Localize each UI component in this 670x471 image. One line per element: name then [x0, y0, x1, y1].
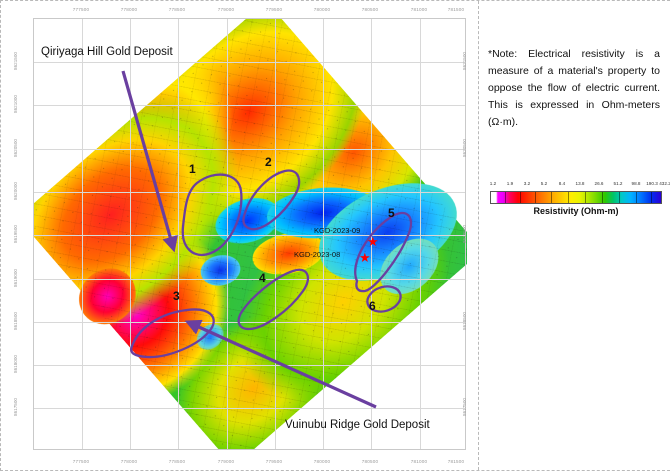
label-vuinubu-ridge-gold-deposit: Vuinubu Ridge Gold Deposit: [285, 419, 430, 431]
axis-x-tick-bottom: 781500: [448, 459, 465, 464]
axis-y-tick-right: 8619500: [462, 225, 467, 243]
gridline-horizontal: [34, 279, 465, 280]
axis-x-tick-top: 778000: [121, 7, 138, 12]
colorbar-divider: [568, 192, 569, 203]
resistivity-colorbar-legend: 1.2 1.9 3.2 5.2 8.4 13.8 26.6 51.2 98.8 …: [486, 181, 666, 216]
axis-y-tick-left: 8620500: [13, 139, 18, 157]
gridline-horizontal: [34, 62, 465, 63]
gridline-vertical: [275, 19, 276, 449]
axis-x-tick-bottom: 779500: [266, 459, 283, 464]
colorbar-divider: [520, 192, 521, 203]
axis-x-tick-top: 781000: [411, 7, 428, 12]
axis-x-tick-bottom: 778000: [121, 459, 138, 464]
borehole-label-kgd-2023-09: KGD-2023-09: [314, 226, 360, 235]
axis-y-tick-left: 8619500: [13, 225, 18, 243]
axis-x-tick-bottom: 777500: [73, 459, 90, 464]
axis-x-tick-bottom: 780500: [362, 459, 379, 464]
axis-y-tick-left: 8617500: [13, 398, 18, 416]
axis-y-tick-right: 8621500: [462, 52, 467, 70]
resistivity-note-text: *Note: Electrical resistivity is a measu…: [488, 46, 660, 131]
borehole-label-kgd-2023-08: KGD-2023-08: [294, 250, 340, 259]
axis-x-tick-top: 780500: [362, 7, 379, 12]
screenshot-root: 777500 778000 778500 779000 779500 78000…: [0, 0, 670, 471]
colorbar-tick: 51.2: [614, 181, 623, 186]
borehole-marker-kgd-2023-08: ★: [359, 251, 371, 264]
resistivity-map-panel: 777500 778000 778500 779000 779500 78000…: [1, 1, 479, 470]
label-qiriyaga-hill-gold-deposit: Qiriyaga Hill Gold Deposit: [41, 46, 173, 58]
gridline-horizontal: [34, 235, 465, 236]
colorbar-tick: 26.6: [595, 181, 604, 186]
colorbar-tick: 8.4: [559, 181, 565, 186]
anomaly-number-6: 6: [369, 299, 376, 313]
colorbar-tick: 432.2: [659, 181, 670, 186]
axis-y-tick-left: 8618000: [13, 355, 18, 373]
colorbar-divider: [551, 192, 552, 203]
axis-y-tick-left: 8618500: [13, 312, 18, 330]
colorbar-divider: [535, 192, 536, 203]
map-axis-frame: [33, 18, 466, 450]
axis-y-tick-left: 8621000: [13, 95, 18, 113]
axis-y-tick-left: 8620000: [13, 182, 18, 200]
axis-y-tick-left: 8619000: [13, 269, 18, 287]
gridline-vertical: [82, 19, 83, 449]
anomaly-number-1: 1: [189, 162, 196, 176]
colorbar-tick: 98.8: [632, 181, 641, 186]
axis-x-tick-bottom: 778500: [169, 459, 186, 464]
colorbar-tick: 3.2: [524, 181, 530, 186]
axis-x-tick-top: 777500: [73, 7, 90, 12]
gridline-horizontal: [34, 149, 465, 150]
axis-x-tick-bottom: 780000: [314, 459, 331, 464]
axis-x-tick-top: 779000: [218, 7, 235, 12]
gridline-vertical: [130, 19, 131, 449]
axis-y-tick-right: 8617500: [462, 398, 467, 416]
colorbar-divider: [651, 192, 652, 203]
anomaly-number-5: 5: [388, 206, 395, 220]
axis-x-tick-bottom: 779000: [218, 459, 235, 464]
gridline-horizontal: [34, 408, 465, 409]
colorbar-tick: 1.2: [490, 181, 496, 186]
axis-y-tick-left: 8621500: [13, 52, 18, 70]
gridline-horizontal: [34, 365, 465, 366]
axis-x-tick-top: 778500: [169, 7, 186, 12]
axis-y-tick-right: 8618500: [462, 312, 467, 330]
anomaly-number-2: 2: [265, 155, 272, 169]
axis-x-tick-bottom: 781000: [411, 459, 428, 464]
gridline-horizontal: [34, 192, 465, 193]
gridline-vertical: [227, 19, 228, 449]
colorbar-tick: 190.3: [646, 181, 658, 186]
colorbar-gradient: [490, 191, 662, 204]
axis-y-tick-right: 8620500: [462, 139, 467, 157]
colorbar-tick-labels: 1.2 1.9 3.2 5.2 8.4 13.8 26.6 51.2 98.8 …: [486, 181, 666, 191]
colorbar-divider: [585, 192, 586, 203]
gridline-horizontal: [34, 322, 465, 323]
axis-x-tick-top: 781500: [448, 7, 465, 12]
colorbar-divider: [505, 192, 506, 203]
axis-x-tick-top: 779500: [266, 7, 283, 12]
colorbar-divider: [636, 192, 637, 203]
colorbar-tick: 1.9: [507, 181, 513, 186]
gridline-vertical: [420, 19, 421, 449]
colorbar-title: Resistivity (Ohm-m): [486, 206, 666, 216]
note-panel: *Note: Electrical resistivity is a measu…: [480, 1, 670, 470]
colorbar-tick: 13.8: [576, 181, 585, 186]
borehole-marker-kgd-2023-09: ★: [367, 235, 379, 248]
anomaly-number-4: 4: [259, 271, 266, 285]
gridline-vertical: [178, 19, 179, 449]
axis-x-tick-top: 780000: [314, 7, 331, 12]
colorbar-divider: [602, 192, 603, 203]
colorbar-divider: [619, 192, 620, 203]
gridline-horizontal: [34, 105, 465, 106]
anomaly-number-3: 3: [173, 289, 180, 303]
colorbar-tick: 5.2: [541, 181, 547, 186]
